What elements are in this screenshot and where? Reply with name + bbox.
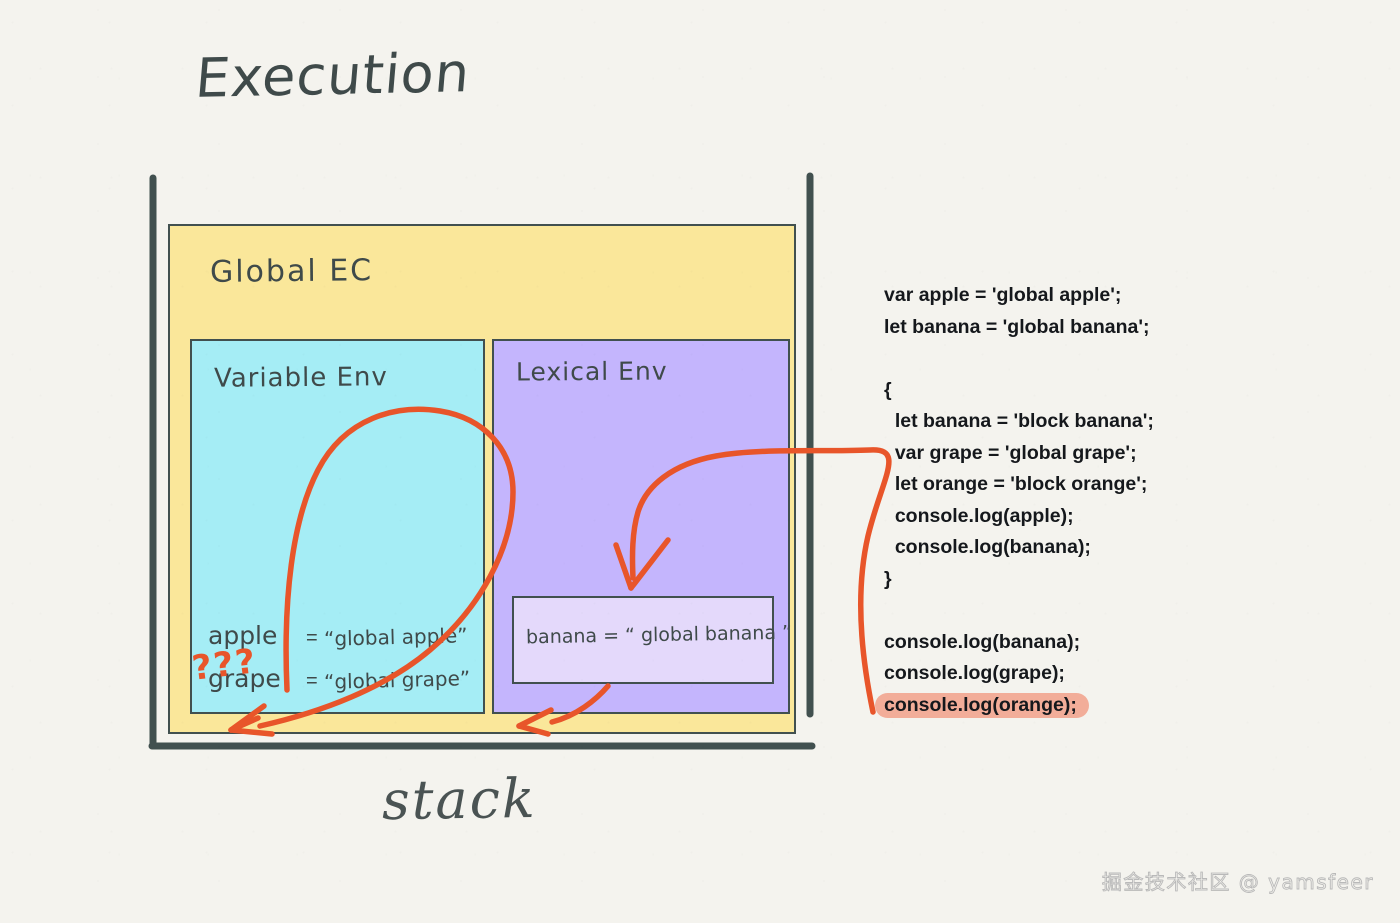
code-line: let banana = 'global banana'; <box>884 312 1304 344</box>
code-blank-line <box>884 595 1304 627</box>
code-line: console.log(apple); <box>884 501 1304 533</box>
global-execution-context-box: Global EC Variable Env apple = “global a… <box>168 224 796 734</box>
code-line: console.log(banana); <box>884 532 1304 564</box>
lexical-env-inner-box: banana = “ global banana ” <box>512 596 774 684</box>
binding-value: “global apple” <box>323 623 467 651</box>
code-snippet: var apple = 'global apple'; let banana =… <box>884 280 1304 721</box>
binding-value: “global grape” <box>323 666 470 694</box>
code-line: var grape = 'global grape'; <box>884 438 1304 470</box>
watermark: 掘金技术社区 @ yamsfeer <box>1102 866 1374 895</box>
code-line: console.log(banana); <box>884 627 1304 659</box>
stack-caption: stack <box>382 767 537 832</box>
question-marks-annotation: ??? <box>190 641 260 689</box>
code-line-highlighted: console.log(orange); <box>884 694 1077 716</box>
binding-equals: = <box>306 627 318 650</box>
lexical-env-label: Lexical Env <box>516 356 668 386</box>
binding-equals: = <box>306 670 318 693</box>
variable-env-label: Variable Env <box>214 362 388 394</box>
code-line: console.log(grape); <box>884 658 1304 690</box>
code-line: { <box>884 375 1304 407</box>
code-line: } <box>884 564 1304 596</box>
code-line: var apple = 'global apple'; <box>884 280 1304 312</box>
highlight-wrapper: console.log(orange); <box>884 690 1077 722</box>
lexical-env-binding-text: banana = “ global banana ” <box>526 622 792 649</box>
global-ec-label: Global EC <box>210 253 373 290</box>
code-line: let banana = 'block banana'; <box>884 406 1304 438</box>
code-line: let orange = 'block orange'; <box>884 469 1304 501</box>
lexical-environment-box: Lexical Env banana = “ global banana ” <box>492 339 790 714</box>
code-line-highlighted-wrapper: console.log(orange); <box>884 690 1304 722</box>
code-blank-line <box>884 343 1304 375</box>
